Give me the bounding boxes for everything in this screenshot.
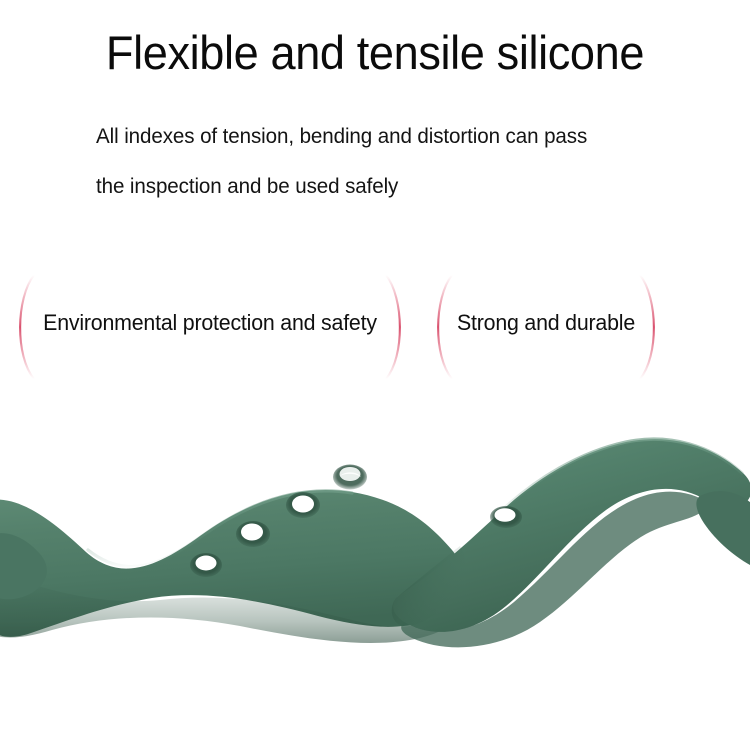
page-title: Flexible and tensile silicone xyxy=(15,22,735,84)
band-holes-right xyxy=(490,506,522,528)
feature-tags-row: Environmental protection and safety xyxy=(0,272,750,382)
product-feature-banner: Flexible and tensile silicone All indexe… xyxy=(0,0,750,750)
feature-tag-label: Environmental protection and safety xyxy=(14,308,406,338)
subtitle-block: All indexes of tension, bending and dist… xyxy=(96,112,684,212)
bracket-arc-right-icon xyxy=(632,272,666,382)
subtitle-line-1: All indexes of tension, bending and dist… xyxy=(96,112,684,162)
product-image xyxy=(0,400,750,750)
feature-tag-environmental: Environmental protection and safety xyxy=(8,272,412,382)
bracket-arc-right-icon xyxy=(378,272,412,382)
feature-tag-durable: Strong and durable xyxy=(426,272,666,382)
feature-tag-label: Strong and durable xyxy=(430,308,663,338)
band-tail-right xyxy=(696,491,750,568)
subtitle-line-2: the inspection and be used safely xyxy=(96,162,684,212)
